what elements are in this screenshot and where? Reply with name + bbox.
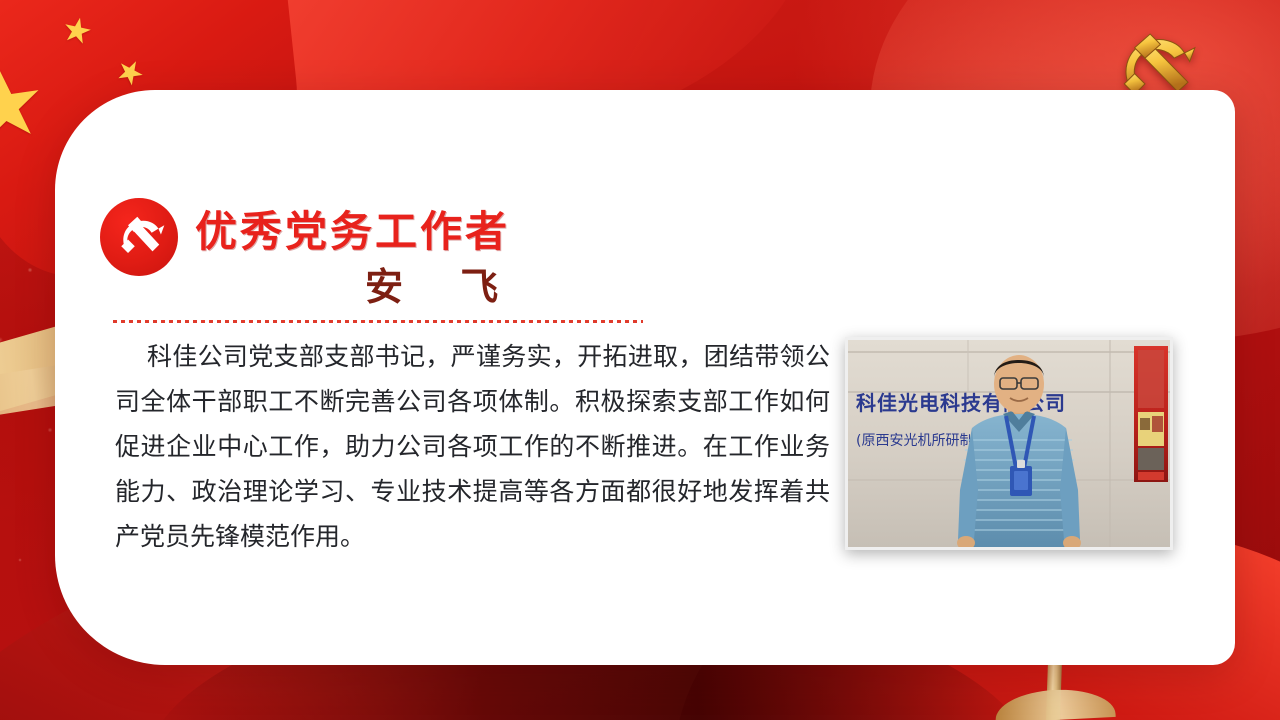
description-paragraph: 科佳公司党支部支部书记，严谨务实，开拓进取，团结带领公司全体干部职工不断完善公司… [115, 334, 830, 559]
slide-root: ★ ★ ★ ★ ★ [0, 0, 1280, 720]
person-name: 安 飞 [365, 256, 520, 311]
content-card: 优秀党务工作者 安 飞 科佳公司党支部支部书记，严谨务实，开拓进取，团结带领公司… [55, 90, 1235, 665]
portrait-photo: 科佳光电科技有限公司 (原西安光机所研制工厂) [845, 337, 1173, 550]
gold-ribbon-bottom-sweep [994, 687, 1115, 720]
party-emblem-hammer-sickle-icon [100, 198, 178, 276]
dotted-divider [113, 320, 643, 323]
page-title: 优秀党务工作者 [195, 198, 510, 259]
